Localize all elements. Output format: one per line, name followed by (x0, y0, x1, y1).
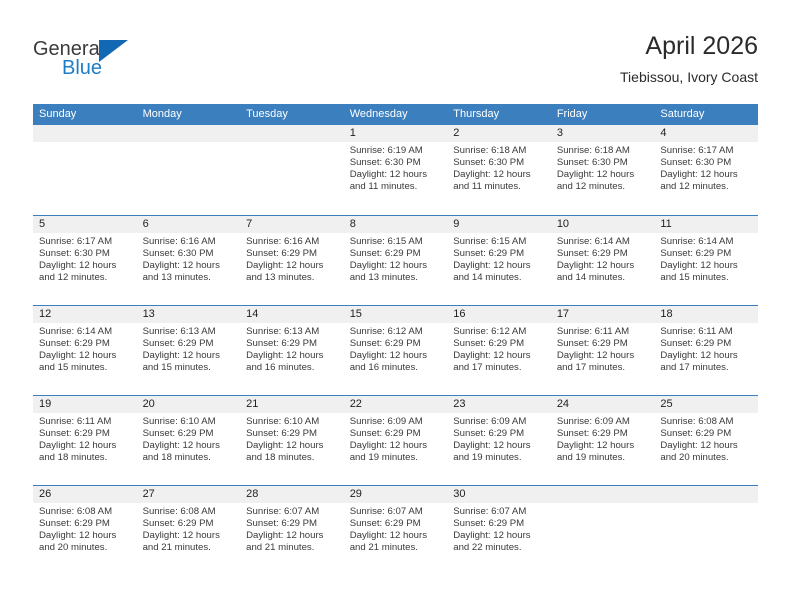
sunset-text: Sunset: 6:29 PM (246, 428, 338, 440)
calendar-day-cell[interactable]: 10Sunrise: 6:14 AMSunset: 6:29 PMDayligh… (551, 216, 655, 305)
calendar-day-cell-empty (654, 486, 758, 575)
sunset-text: Sunset: 6:29 PM (39, 338, 131, 350)
calendar-week-row: 12Sunrise: 6:14 AMSunset: 6:29 PMDayligh… (33, 305, 758, 395)
day-number: 24 (551, 396, 655, 413)
daylight-text: and 12 minutes. (557, 181, 649, 193)
sunset-text: Sunset: 6:29 PM (350, 248, 442, 260)
daylight-text: and 16 minutes. (350, 362, 442, 374)
sunrise-text: Sunrise: 6:12 AM (350, 326, 442, 338)
calendar-day-cell[interactable]: 3Sunrise: 6:18 AMSunset: 6:30 PMDaylight… (551, 125, 655, 214)
weekday-header-thursday: Thursday (447, 104, 551, 125)
sunrise-text: Sunrise: 6:07 AM (350, 506, 442, 518)
day-number (137, 125, 241, 142)
sunrise-text: Sunrise: 6:15 AM (453, 236, 545, 248)
daylight-text: Daylight: 12 hours (453, 169, 545, 181)
sunrise-text: Sunrise: 6:12 AM (453, 326, 545, 338)
day-number: 8 (344, 216, 448, 233)
day-detail: Sunrise: 6:16 AMSunset: 6:29 PMDaylight:… (240, 233, 344, 284)
calendar-day-cell[interactable]: 23Sunrise: 6:09 AMSunset: 6:29 PMDayligh… (447, 396, 551, 485)
day-number: 9 (447, 216, 551, 233)
day-number: 21 (240, 396, 344, 413)
daylight-text: Daylight: 12 hours (143, 260, 235, 272)
sunset-text: Sunset: 6:29 PM (660, 248, 752, 260)
sunset-text: Sunset: 6:29 PM (350, 428, 442, 440)
calendar-day-cell[interactable]: 4Sunrise: 6:17 AMSunset: 6:30 PMDaylight… (654, 125, 758, 214)
sunrise-text: Sunrise: 6:08 AM (143, 506, 235, 518)
daylight-text: Daylight: 12 hours (246, 260, 338, 272)
day-detail: Sunrise: 6:16 AMSunset: 6:30 PMDaylight:… (137, 233, 241, 284)
daylight-text: and 16 minutes. (246, 362, 338, 374)
calendar-day-cell[interactable]: 7Sunrise: 6:16 AMSunset: 6:29 PMDaylight… (240, 216, 344, 305)
day-detail: Sunrise: 6:17 AMSunset: 6:30 PMDaylight:… (33, 233, 137, 284)
daylight-text: and 13 minutes. (246, 272, 338, 284)
daylight-text: Daylight: 12 hours (246, 440, 338, 452)
daylight-text: Daylight: 12 hours (557, 440, 649, 452)
daylight-text: Daylight: 12 hours (557, 169, 649, 181)
day-detail: Sunrise: 6:11 AMSunset: 6:29 PMDaylight:… (551, 323, 655, 374)
day-number (33, 125, 137, 142)
day-number (654, 486, 758, 503)
daylight-text: Daylight: 12 hours (39, 350, 131, 362)
daylight-text: Daylight: 12 hours (453, 260, 545, 272)
day-detail: Sunrise: 6:14 AMSunset: 6:29 PMDaylight:… (654, 233, 758, 284)
daylight-text: Daylight: 12 hours (143, 530, 235, 542)
daylight-text: Daylight: 12 hours (453, 440, 545, 452)
weekday-header-sunday: Sunday (33, 104, 137, 125)
day-detail: Sunrise: 6:07 AMSunset: 6:29 PMDaylight:… (240, 503, 344, 554)
page-header: General Blue April 2026 Tiebissou, Ivory… (33, 30, 758, 92)
sunset-text: Sunset: 6:29 PM (453, 338, 545, 350)
sunrise-text: Sunrise: 6:08 AM (660, 416, 752, 428)
calendar-day-cell[interactable]: 1Sunrise: 6:19 AMSunset: 6:30 PMDaylight… (344, 125, 448, 214)
sunset-text: Sunset: 6:29 PM (557, 338, 649, 350)
sunset-text: Sunset: 6:30 PM (453, 157, 545, 169)
daylight-text: Daylight: 12 hours (557, 350, 649, 362)
day-number: 2 (447, 125, 551, 142)
daylight-text: and 13 minutes. (143, 272, 235, 284)
daylight-text: and 22 minutes. (453, 542, 545, 554)
day-number: 1 (344, 125, 448, 142)
weekday-header-wednesday: Wednesday (344, 104, 448, 125)
calendar-week-row: 19Sunrise: 6:11 AMSunset: 6:29 PMDayligh… (33, 395, 758, 485)
day-detail: Sunrise: 6:14 AMSunset: 6:29 PMDaylight:… (33, 323, 137, 374)
calendar-week-row: 26Sunrise: 6:08 AMSunset: 6:29 PMDayligh… (33, 485, 758, 575)
sunrise-text: Sunrise: 6:10 AM (246, 416, 338, 428)
logo-text-blue: Blue (62, 57, 102, 80)
day-detail: Sunrise: 6:12 AMSunset: 6:29 PMDaylight:… (447, 323, 551, 374)
day-detail: Sunrise: 6:09 AMSunset: 6:29 PMDaylight:… (447, 413, 551, 464)
page-title: April 2026 (620, 30, 758, 62)
calendar-page: General Blue April 2026 Tiebissou, Ivory… (0, 0, 792, 612)
day-number: 19 (33, 396, 137, 413)
daylight-text: and 19 minutes. (557, 452, 649, 464)
daylight-text: Daylight: 12 hours (143, 350, 235, 362)
daylight-text: Daylight: 12 hours (39, 530, 131, 542)
day-number: 11 (654, 216, 758, 233)
daylight-text: Daylight: 12 hours (39, 440, 131, 452)
calendar-day-cell[interactable]: 2Sunrise: 6:18 AMSunset: 6:30 PMDaylight… (447, 125, 551, 214)
calendar-day-cell[interactable]: 11Sunrise: 6:14 AMSunset: 6:29 PMDayligh… (654, 216, 758, 305)
sunrise-text: Sunrise: 6:14 AM (660, 236, 752, 248)
sunrise-text: Sunrise: 6:13 AM (143, 326, 235, 338)
calendar-day-cell[interactable]: 26Sunrise: 6:08 AMSunset: 6:29 PMDayligh… (33, 486, 137, 575)
calendar-day-cell-empty (137, 125, 241, 214)
calendar-day-cell[interactable]: 13Sunrise: 6:13 AMSunset: 6:29 PMDayligh… (137, 306, 241, 395)
calendar-grid: Sunday Monday Tuesday Wednesday Thursday… (33, 104, 758, 575)
sunrise-text: Sunrise: 6:13 AM (246, 326, 338, 338)
daylight-text: and 17 minutes. (660, 362, 752, 374)
daylight-text: and 14 minutes. (557, 272, 649, 284)
daylight-text: Daylight: 12 hours (557, 260, 649, 272)
sunset-text: Sunset: 6:29 PM (350, 518, 442, 530)
sunset-text: Sunset: 6:29 PM (143, 428, 235, 440)
day-number: 28 (240, 486, 344, 503)
day-number: 26 (33, 486, 137, 503)
calendar-weeks: 1Sunrise: 6:19 AMSunset: 6:30 PMDaylight… (33, 125, 758, 575)
sunrise-text: Sunrise: 6:07 AM (246, 506, 338, 518)
sunset-text: Sunset: 6:30 PM (660, 157, 752, 169)
sunset-text: Sunset: 6:30 PM (143, 248, 235, 260)
sunset-text: Sunset: 6:29 PM (39, 518, 131, 530)
sunrise-text: Sunrise: 6:17 AM (660, 145, 752, 157)
day-detail: Sunrise: 6:19 AMSunset: 6:30 PMDaylight:… (344, 142, 448, 193)
day-number: 29 (344, 486, 448, 503)
day-detail: Sunrise: 6:15 AMSunset: 6:29 PMDaylight:… (344, 233, 448, 284)
sunset-text: Sunset: 6:30 PM (39, 248, 131, 260)
daylight-text: Daylight: 12 hours (350, 260, 442, 272)
day-number: 18 (654, 306, 758, 323)
day-detail: Sunrise: 6:18 AMSunset: 6:30 PMDaylight:… (551, 142, 655, 193)
day-detail: Sunrise: 6:13 AMSunset: 6:29 PMDaylight:… (240, 323, 344, 374)
daylight-text: Daylight: 12 hours (350, 169, 442, 181)
weekday-header-tuesday: Tuesday (240, 104, 344, 125)
calendar-day-cell[interactable]: 20Sunrise: 6:10 AMSunset: 6:29 PMDayligh… (137, 396, 241, 485)
sunset-text: Sunset: 6:29 PM (660, 338, 752, 350)
sunrise-text: Sunrise: 6:16 AM (246, 236, 338, 248)
day-detail: Sunrise: 6:07 AMSunset: 6:29 PMDaylight:… (344, 503, 448, 554)
calendar-day-cell[interactable]: 29Sunrise: 6:07 AMSunset: 6:29 PMDayligh… (344, 486, 448, 575)
daylight-text: and 12 minutes. (660, 181, 752, 193)
sunset-text: Sunset: 6:29 PM (143, 338, 235, 350)
day-detail: Sunrise: 6:12 AMSunset: 6:29 PMDaylight:… (344, 323, 448, 374)
daylight-text: Daylight: 12 hours (246, 350, 338, 362)
sunset-text: Sunset: 6:29 PM (246, 338, 338, 350)
daylight-text: Daylight: 12 hours (660, 169, 752, 181)
day-detail: Sunrise: 6:10 AMSunset: 6:29 PMDaylight:… (240, 413, 344, 464)
calendar-day-cell[interactable]: 8Sunrise: 6:15 AMSunset: 6:29 PMDaylight… (344, 216, 448, 305)
calendar-day-cell[interactable]: 15Sunrise: 6:12 AMSunset: 6:29 PMDayligh… (344, 306, 448, 395)
calendar-day-cell[interactable]: 30Sunrise: 6:07 AMSunset: 6:29 PMDayligh… (447, 486, 551, 575)
day-detail: Sunrise: 6:17 AMSunset: 6:30 PMDaylight:… (654, 142, 758, 193)
day-number: 27 (137, 486, 241, 503)
sunset-text: Sunset: 6:29 PM (39, 428, 131, 440)
daylight-text: and 18 minutes. (39, 452, 131, 464)
daylight-text: and 11 minutes. (350, 181, 442, 193)
daylight-text: and 19 minutes. (350, 452, 442, 464)
day-number: 10 (551, 216, 655, 233)
daylight-text: and 15 minutes. (660, 272, 752, 284)
calendar-day-cell[interactable]: 27Sunrise: 6:08 AMSunset: 6:29 PMDayligh… (137, 486, 241, 575)
weekday-header-saturday: Saturday (654, 104, 758, 125)
calendar-day-cell[interactable]: 28Sunrise: 6:07 AMSunset: 6:29 PMDayligh… (240, 486, 344, 575)
day-detail: Sunrise: 6:14 AMSunset: 6:29 PMDaylight:… (551, 233, 655, 284)
day-number (240, 125, 344, 142)
sunset-text: Sunset: 6:29 PM (246, 248, 338, 260)
sunrise-text: Sunrise: 6:14 AM (557, 236, 649, 248)
day-number: 3 (551, 125, 655, 142)
day-detail: Sunrise: 6:11 AMSunset: 6:29 PMDaylight:… (654, 323, 758, 374)
calendar-day-cell[interactable]: 12Sunrise: 6:14 AMSunset: 6:29 PMDayligh… (33, 306, 137, 395)
daylight-text: Daylight: 12 hours (39, 260, 131, 272)
daylight-text: Daylight: 12 hours (350, 440, 442, 452)
day-detail: Sunrise: 6:08 AMSunset: 6:29 PMDaylight:… (33, 503, 137, 554)
daylight-text: Daylight: 12 hours (350, 350, 442, 362)
daylight-text: and 13 minutes. (350, 272, 442, 284)
sunrise-text: Sunrise: 6:11 AM (557, 326, 649, 338)
daylight-text: and 19 minutes. (453, 452, 545, 464)
sunset-text: Sunset: 6:30 PM (350, 157, 442, 169)
day-number: 14 (240, 306, 344, 323)
day-number: 5 (33, 216, 137, 233)
sunset-text: Sunset: 6:29 PM (453, 428, 545, 440)
daylight-text: and 21 minutes. (350, 542, 442, 554)
day-number: 7 (240, 216, 344, 233)
calendar-week-row: 5Sunrise: 6:17 AMSunset: 6:30 PMDaylight… (33, 215, 758, 305)
calendar-day-cell[interactable]: 17Sunrise: 6:11 AMSunset: 6:29 PMDayligh… (551, 306, 655, 395)
daylight-text: Daylight: 12 hours (453, 530, 545, 542)
daylight-text: and 12 minutes. (39, 272, 131, 284)
sunrise-text: Sunrise: 6:09 AM (350, 416, 442, 428)
sunset-text: Sunset: 6:29 PM (557, 248, 649, 260)
sunset-text: Sunset: 6:29 PM (143, 518, 235, 530)
calendar-day-cell[interactable]: 5Sunrise: 6:17 AMSunset: 6:30 PMDaylight… (33, 216, 137, 305)
day-number: 20 (137, 396, 241, 413)
daylight-text: and 18 minutes. (143, 452, 235, 464)
calendar-day-cell[interactable]: 14Sunrise: 6:13 AMSunset: 6:29 PMDayligh… (240, 306, 344, 395)
sunset-text: Sunset: 6:30 PM (557, 157, 649, 169)
sunrise-text: Sunrise: 6:11 AM (39, 416, 131, 428)
calendar-day-cell[interactable]: 24Sunrise: 6:09 AMSunset: 6:29 PMDayligh… (551, 396, 655, 485)
daylight-text: and 17 minutes. (557, 362, 649, 374)
sunset-text: Sunset: 6:29 PM (557, 428, 649, 440)
calendar-day-cell[interactable]: 6Sunrise: 6:16 AMSunset: 6:30 PMDaylight… (137, 216, 241, 305)
day-number: 15 (344, 306, 448, 323)
calendar-day-cell-empty (240, 125, 344, 214)
calendar-day-cell[interactable]: 25Sunrise: 6:08 AMSunset: 6:29 PMDayligh… (654, 396, 758, 485)
title-block: April 2026 Tiebissou, Ivory Coast (620, 30, 758, 87)
day-number: 6 (137, 216, 241, 233)
calendar-day-cell[interactable]: 9Sunrise: 6:15 AMSunset: 6:29 PMDaylight… (447, 216, 551, 305)
day-detail: Sunrise: 6:07 AMSunset: 6:29 PMDaylight:… (447, 503, 551, 554)
sunset-text: Sunset: 6:29 PM (660, 428, 752, 440)
sunrise-text: Sunrise: 6:09 AM (557, 416, 649, 428)
sunrise-text: Sunrise: 6:11 AM (660, 326, 752, 338)
day-number: 12 (33, 306, 137, 323)
calendar-day-cell[interactable]: 16Sunrise: 6:12 AMSunset: 6:29 PMDayligh… (447, 306, 551, 395)
calendar-day-cell-empty (551, 486, 655, 575)
daylight-text: and 21 minutes. (246, 542, 338, 554)
general-blue-logo[interactable]: General Blue (33, 38, 163, 86)
day-detail: Sunrise: 6:09 AMSunset: 6:29 PMDaylight:… (344, 413, 448, 464)
day-number: 25 (654, 396, 758, 413)
day-number: 23 (447, 396, 551, 413)
day-detail: Sunrise: 6:09 AMSunset: 6:29 PMDaylight:… (551, 413, 655, 464)
day-detail: Sunrise: 6:10 AMSunset: 6:29 PMDaylight:… (137, 413, 241, 464)
daylight-text: and 15 minutes. (39, 362, 131, 374)
weekday-header-friday: Friday (551, 104, 655, 125)
triangle-icon (99, 40, 128, 62)
sunrise-text: Sunrise: 6:15 AM (350, 236, 442, 248)
sunset-text: Sunset: 6:29 PM (246, 518, 338, 530)
sunrise-text: Sunrise: 6:18 AM (557, 145, 649, 157)
sunrise-text: Sunrise: 6:09 AM (453, 416, 545, 428)
day-detail: Sunrise: 6:18 AMSunset: 6:30 PMDaylight:… (447, 142, 551, 193)
calendar-day-cell[interactable]: 21Sunrise: 6:10 AMSunset: 6:29 PMDayligh… (240, 396, 344, 485)
daylight-text: Daylight: 12 hours (143, 440, 235, 452)
day-number: 22 (344, 396, 448, 413)
sunrise-text: Sunrise: 6:07 AM (453, 506, 545, 518)
daylight-text: and 14 minutes. (453, 272, 545, 284)
day-number: 16 (447, 306, 551, 323)
sunrise-text: Sunrise: 6:14 AM (39, 326, 131, 338)
daylight-text: and 15 minutes. (143, 362, 235, 374)
day-number: 4 (654, 125, 758, 142)
sunset-text: Sunset: 6:29 PM (453, 518, 545, 530)
calendar-day-cell-empty (33, 125, 137, 214)
calendar-week-row: 1Sunrise: 6:19 AMSunset: 6:30 PMDaylight… (33, 125, 758, 215)
day-number: 17 (551, 306, 655, 323)
daylight-text: and 20 minutes. (660, 452, 752, 464)
sunrise-text: Sunrise: 6:18 AM (453, 145, 545, 157)
day-detail: Sunrise: 6:15 AMSunset: 6:29 PMDaylight:… (447, 233, 551, 284)
daylight-text: Daylight: 12 hours (660, 440, 752, 452)
day-number: 13 (137, 306, 241, 323)
calendar-day-cell[interactable]: 18Sunrise: 6:11 AMSunset: 6:29 PMDayligh… (654, 306, 758, 395)
day-detail: Sunrise: 6:08 AMSunset: 6:29 PMDaylight:… (137, 503, 241, 554)
daylight-text: Daylight: 12 hours (350, 530, 442, 542)
daylight-text: Daylight: 12 hours (660, 350, 752, 362)
calendar-day-cell[interactable]: 19Sunrise: 6:11 AMSunset: 6:29 PMDayligh… (33, 396, 137, 485)
sunrise-text: Sunrise: 6:19 AM (350, 145, 442, 157)
calendar-day-cell[interactable]: 22Sunrise: 6:09 AMSunset: 6:29 PMDayligh… (344, 396, 448, 485)
daylight-text: Daylight: 12 hours (246, 530, 338, 542)
sunrise-text: Sunrise: 6:08 AM (39, 506, 131, 518)
sunrise-text: Sunrise: 6:17 AM (39, 236, 131, 248)
weekday-header-row: Sunday Monday Tuesday Wednesday Thursday… (33, 104, 758, 125)
day-number: 30 (447, 486, 551, 503)
sunrise-text: Sunrise: 6:10 AM (143, 416, 235, 428)
weekday-header-monday: Monday (137, 104, 241, 125)
daylight-text: and 21 minutes. (143, 542, 235, 554)
day-detail: Sunrise: 6:13 AMSunset: 6:29 PMDaylight:… (137, 323, 241, 374)
daylight-text: and 17 minutes. (453, 362, 545, 374)
daylight-text: and 11 minutes. (453, 181, 545, 193)
daylight-text: and 18 minutes. (246, 452, 338, 464)
location-subtitle: Tiebissou, Ivory Coast (620, 67, 758, 87)
daylight-text: and 20 minutes. (39, 542, 131, 554)
sunrise-text: Sunrise: 6:16 AM (143, 236, 235, 248)
day-detail: Sunrise: 6:08 AMSunset: 6:29 PMDaylight:… (654, 413, 758, 464)
sunset-text: Sunset: 6:29 PM (453, 248, 545, 260)
day-number (551, 486, 655, 503)
daylight-text: Daylight: 12 hours (660, 260, 752, 272)
sunset-text: Sunset: 6:29 PM (350, 338, 442, 350)
daylight-text: Daylight: 12 hours (453, 350, 545, 362)
day-detail: Sunrise: 6:11 AMSunset: 6:29 PMDaylight:… (33, 413, 137, 464)
